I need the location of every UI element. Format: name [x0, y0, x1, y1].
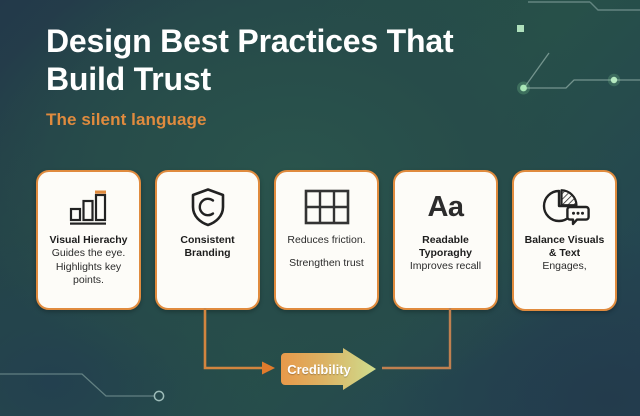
credibility-arrow[interactable]: Credibility — [277, 347, 378, 391]
header: Design Best Practices That Build Trust T… — [46, 22, 566, 130]
page-title-line-1: Design Best Practices That — [46, 23, 453, 59]
shield-c-icon — [190, 184, 226, 230]
typography-aa-icon: Aa — [427, 184, 463, 230]
page-title-line-2: Build Trust — [46, 61, 211, 97]
practice-card-list: Visual Hierachy Guides the eye. Highligh… — [36, 170, 626, 312]
card-subtitle: Branding — [184, 247, 230, 260]
card-description: Engages, — [542, 260, 586, 274]
card-description-secondary: Strengthen trust — [289, 257, 364, 271]
card-reduces-friction[interactable]: Reduces friction. Strengthen trust — [274, 170, 379, 310]
card-description: Reduces friction. — [287, 234, 365, 248]
credibility-label: Credibility — [277, 347, 361, 391]
card-balance-visuals-text[interactable]: Balance Visuals & Text Engages, — [512, 170, 617, 311]
page-title: Design Best Practices That Build Trust — [46, 22, 566, 98]
card-description: Improves recall — [410, 260, 481, 274]
grid-layout-icon — [304, 184, 350, 230]
card-title: Consistent — [180, 234, 234, 247]
aa-glyph: Aa — [427, 187, 463, 227]
bar-chart-icon — [68, 184, 110, 230]
page-subtitle: The silent language — [46, 110, 566, 130]
card-title: Readable Typoraghy — [402, 234, 489, 260]
pie-chat-icon — [540, 184, 590, 230]
card-title: Visual Hierachy — [49, 234, 127, 247]
card-visual-hierarchy[interactable]: Visual Hierachy Guides the eye. Highligh… — [36, 170, 141, 310]
card-description: Guides the eye. Highlights key points. — [45, 247, 132, 288]
card-readable-typography[interactable]: Aa Readable Typoraghy Improves recall — [393, 170, 498, 310]
infographic-canvas: Design Best Practices That Build Trust T… — [0, 0, 640, 416]
card-consistent-branding[interactable]: Consistent Branding — [155, 170, 260, 310]
card-title: Balance Visuals & Text — [521, 234, 608, 260]
